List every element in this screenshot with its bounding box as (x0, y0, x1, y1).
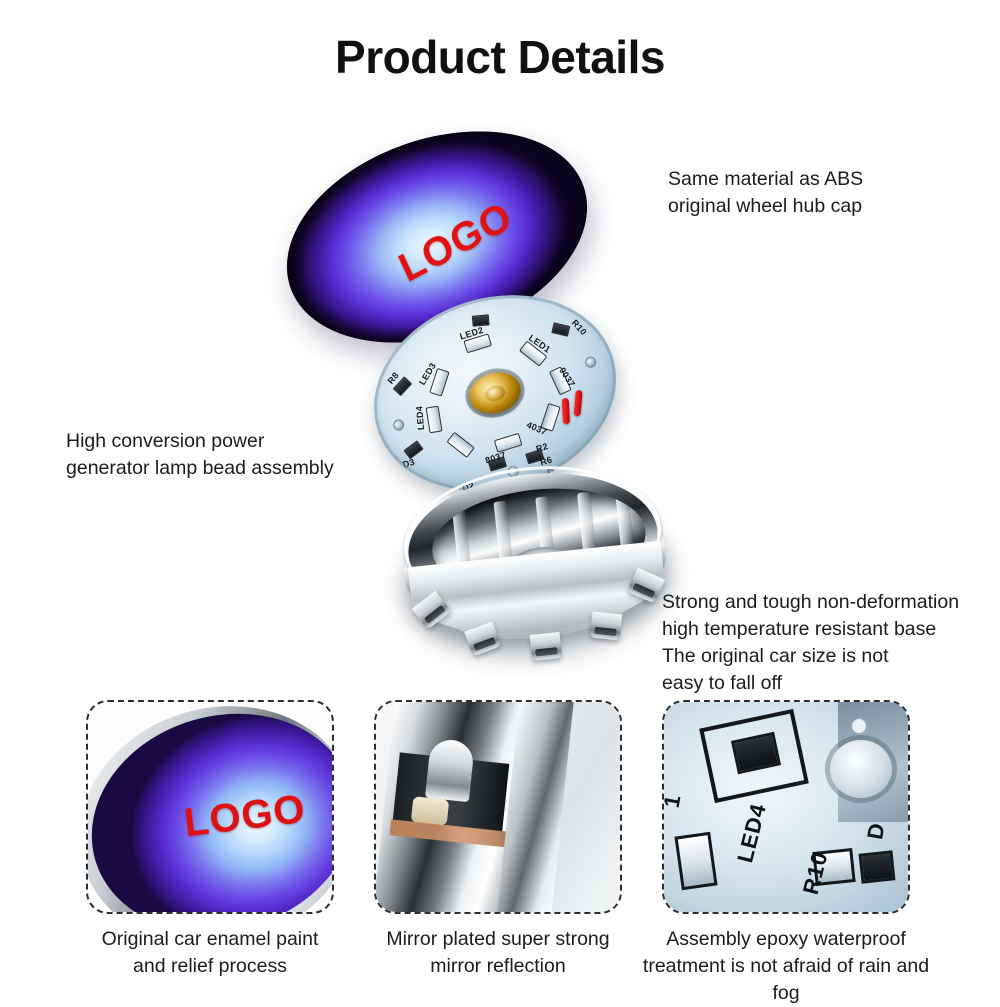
feature-caption-epoxy-waterproof: Assembly epoxy waterproof treatment is n… (636, 926, 936, 1007)
annotation-lamp-bead: High conversion power generator lamp bea… (66, 428, 376, 482)
product-details-page: Product Details LOGO (0, 0, 1000, 1000)
base-clip-tab-2 (530, 632, 563, 661)
feature-caption-mirror-plating: Mirror plated super strong mirror reflec… (348, 926, 648, 980)
thumb3-epoxy-blob (830, 740, 892, 798)
annotation-base: Strong and tough non-deformation high te… (662, 589, 998, 697)
chrome-base-illustration (394, 449, 675, 675)
base-clip-tab-3 (590, 611, 623, 640)
feature-thumbnail-epoxy-waterproof: LED4 R10 D 1 (662, 700, 910, 914)
cap-logo-text: LOGO (392, 193, 519, 291)
feature-thumbnail-enamel-paint: LOGO (86, 700, 334, 914)
annotation-material: Same material as ABS original wheel hub … (668, 166, 988, 220)
thumb3-led-pad (674, 832, 717, 890)
feature-thumbnail-mirror-plating (374, 700, 622, 914)
thumb3-diode-pad (859, 850, 896, 883)
feature-thumbnail-row: LOGO LED4 R10 D 1 Original car enamel p (0, 698, 1000, 1000)
thumb2-clip-detail (425, 738, 475, 802)
feature-caption-enamel-paint: Original car enamel paint and relief pro… (60, 926, 360, 980)
